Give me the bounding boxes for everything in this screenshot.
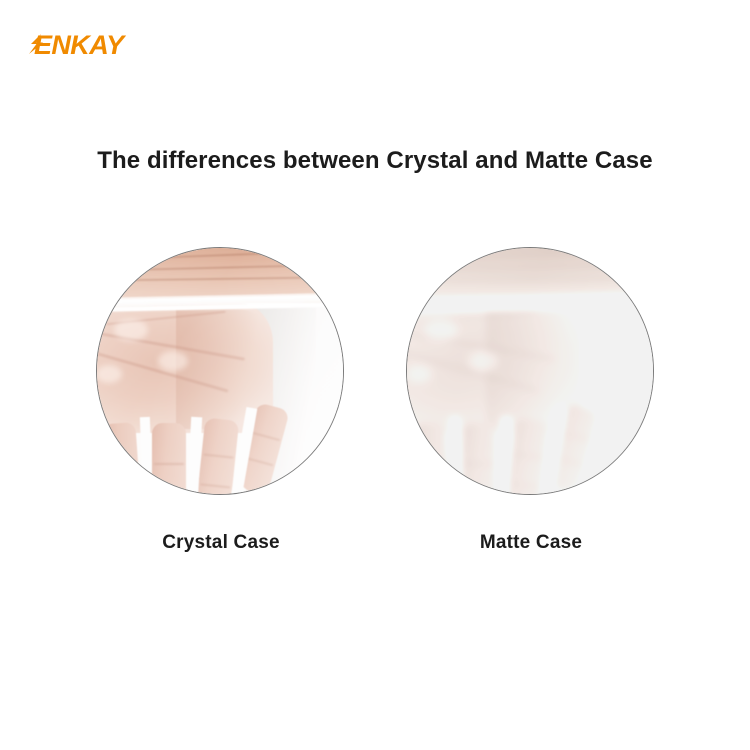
caption-crystal-case: Crystal Case	[71, 532, 371, 554]
page-title: The differences between Crystal and Matt…	[0, 147, 750, 175]
brand-name: ENKAY	[34, 28, 124, 62]
matte-case-photo	[406, 247, 654, 495]
comparison-row: Crystal Case	[0, 247, 750, 577]
comparison-item-matte: Matte Case	[406, 247, 656, 577]
caption-matte-case: Matte Case	[381, 532, 681, 554]
brand-logo: ENKAY	[28, 28, 168, 62]
finger	[152, 423, 186, 495]
crystal-case-scene	[96, 247, 344, 495]
crystal-case-photo	[96, 247, 344, 495]
comparison-item-crystal: Crystal Case	[96, 247, 346, 577]
finger	[462, 423, 496, 495]
matte-case-scene	[406, 247, 654, 495]
